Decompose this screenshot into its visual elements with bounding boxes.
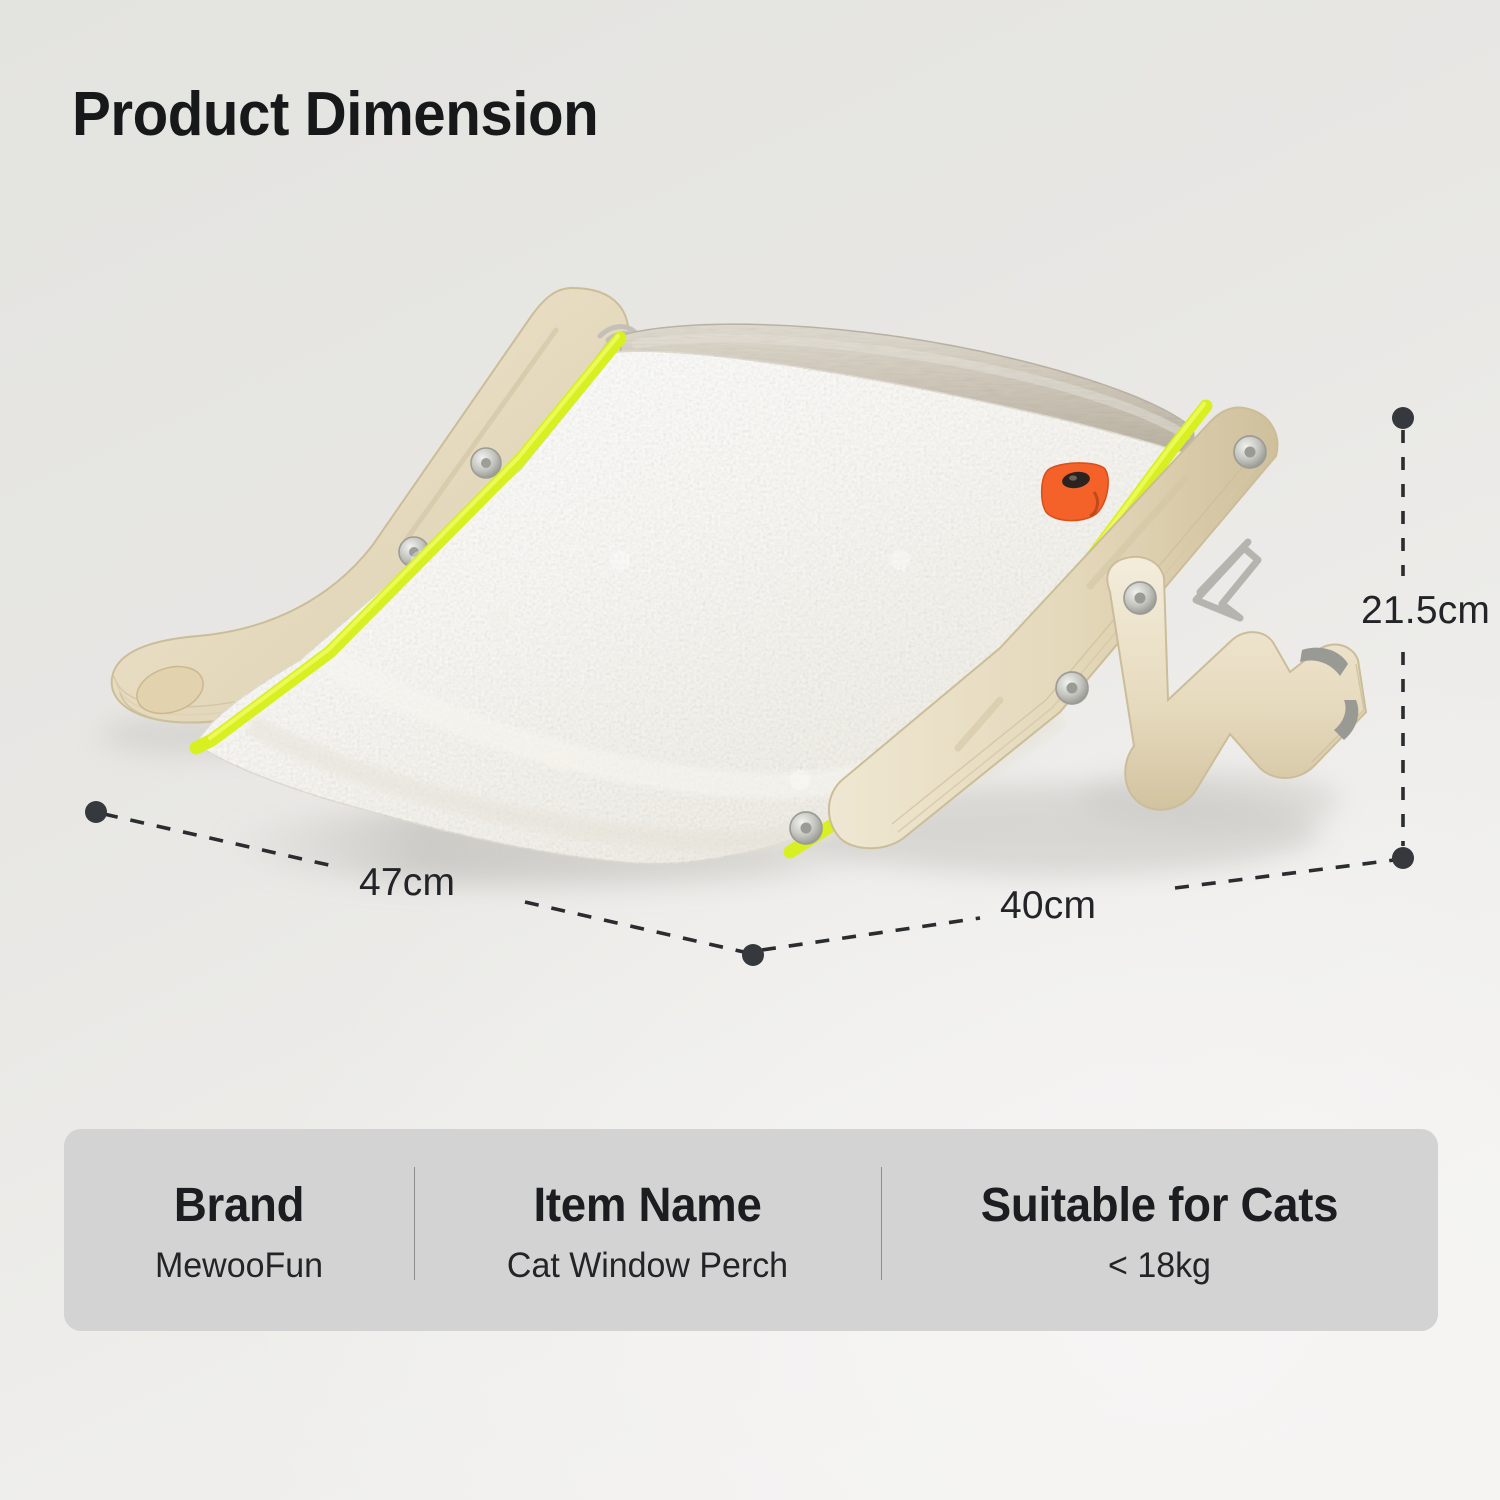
spec-suitable-for-cats: Suitable for Cats < 18kg <box>881 1175 1438 1286</box>
dimension-line-depth-b <box>1175 860 1394 888</box>
dimension-line-width-b <box>525 902 744 952</box>
spec-item-name: Item Name Cat Window Perch <box>414 1175 881 1286</box>
dimension-lines <box>0 0 1500 1120</box>
spec-item-name-value: Cat Window Perch <box>421 1247 874 1286</box>
infographic-canvas: Product Dimension <box>0 0 1500 1500</box>
spec-divider-2 <box>881 1167 882 1280</box>
spec-brand-value: MewooFun <box>69 1247 409 1286</box>
spec-panel: Brand MewooFun Item Name Cat Window Perc… <box>64 1129 1438 1331</box>
dimension-label-depth: 40cm <box>1000 884 1096 928</box>
dimension-line-depth-a <box>762 918 980 950</box>
dimension-label-width: 47cm <box>359 861 455 905</box>
spec-suitable-value: < 18kg <box>889 1247 1429 1286</box>
dimension-label-height: 21.5cm <box>1361 589 1490 633</box>
spec-divider-1 <box>414 1167 415 1280</box>
spec-brand-title: Brand <box>73 1181 406 1231</box>
spec-suitable-title: Suitable for Cats <box>895 1181 1424 1231</box>
spec-item-name-title: Item Name <box>426 1181 870 1231</box>
spec-brand: Brand MewooFun <box>64 1175 414 1286</box>
dimension-line-width-a <box>104 814 333 866</box>
